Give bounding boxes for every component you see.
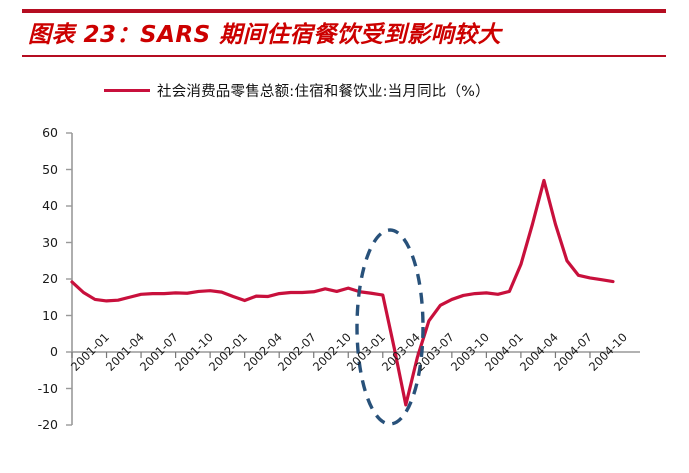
y-axis-tick-label: 10: [24, 308, 58, 323]
y-axis-tick-label: 0: [24, 344, 58, 359]
y-axis-tick-label: 40: [24, 198, 58, 213]
y-axis-tick-label: 20: [24, 271, 58, 286]
chart-figure: 图表 23：SARS 期间住宿餐饮受到影响较大 社会消费品零售总额:住宿和餐饮业…: [0, 0, 689, 468]
y-axis-tick-label: 50: [24, 162, 58, 177]
y-axis-tick-label: -20: [24, 417, 58, 432]
series-line-retail-accommodation-catering: [72, 180, 613, 404]
y-axis-tick-label: 30: [24, 235, 58, 250]
chart-canvas: [0, 0, 689, 468]
plot-area: 6050403020100-10-202001-012001-042001-07…: [0, 0, 689, 468]
y-axis-tick-label: -10: [24, 381, 58, 396]
y-axis-tick-label: 60: [24, 125, 58, 140]
